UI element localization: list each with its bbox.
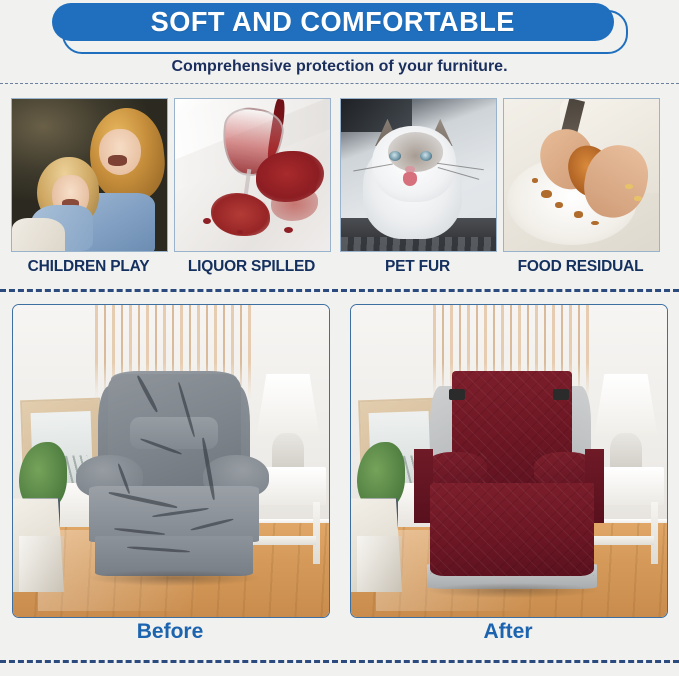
after-label: After <box>350 620 666 644</box>
cat-photo <box>341 99 496 251</box>
feature-image-pet-fur <box>340 98 497 252</box>
feature-image-food-residual <box>503 98 660 252</box>
feature-image-children-play <box>11 98 168 252</box>
feature-label-children-play: CHILDREN PLAY <box>6 258 171 276</box>
after-panel <box>350 304 668 618</box>
before-after-row <box>0 304 679 620</box>
before-panel <box>12 304 330 618</box>
children-hugging-photo <box>12 99 167 251</box>
divider-top <box>0 83 679 84</box>
hands-eating-food-photo <box>504 99 659 251</box>
page-title: SOFT AND COMFORTABLE <box>151 6 515 38</box>
before-scene-image <box>13 305 329 617</box>
before-label: Before <box>12 620 328 644</box>
feature-label-liquor-spilled: LIQUOR SPILLED <box>169 258 334 276</box>
feature-label-pet-fur: PET FUR <box>335 258 500 276</box>
header-banner: SOFT AND COMFORTABLE <box>0 0 679 56</box>
feature-thumbnail-row: CHILDREN PLAY LIQUOR SPILLED <box>0 98 679 284</box>
banner-fill-shape: SOFT AND COMFORTABLE <box>52 3 614 41</box>
infographic-page: SOFT AND COMFORTABLE Comprehensive prote… <box>0 0 679 676</box>
divider-bottom <box>0 660 679 663</box>
feature-image-liquor-spilled <box>174 98 331 252</box>
page-subtitle: Comprehensive protection of your furnitu… <box>0 58 679 76</box>
wine-glass-spill-photo <box>175 99 330 251</box>
feature-label-food-residual: FOOD RESIDUAL <box>498 258 663 276</box>
divider-middle <box>0 289 679 292</box>
after-scene-image <box>351 305 667 617</box>
